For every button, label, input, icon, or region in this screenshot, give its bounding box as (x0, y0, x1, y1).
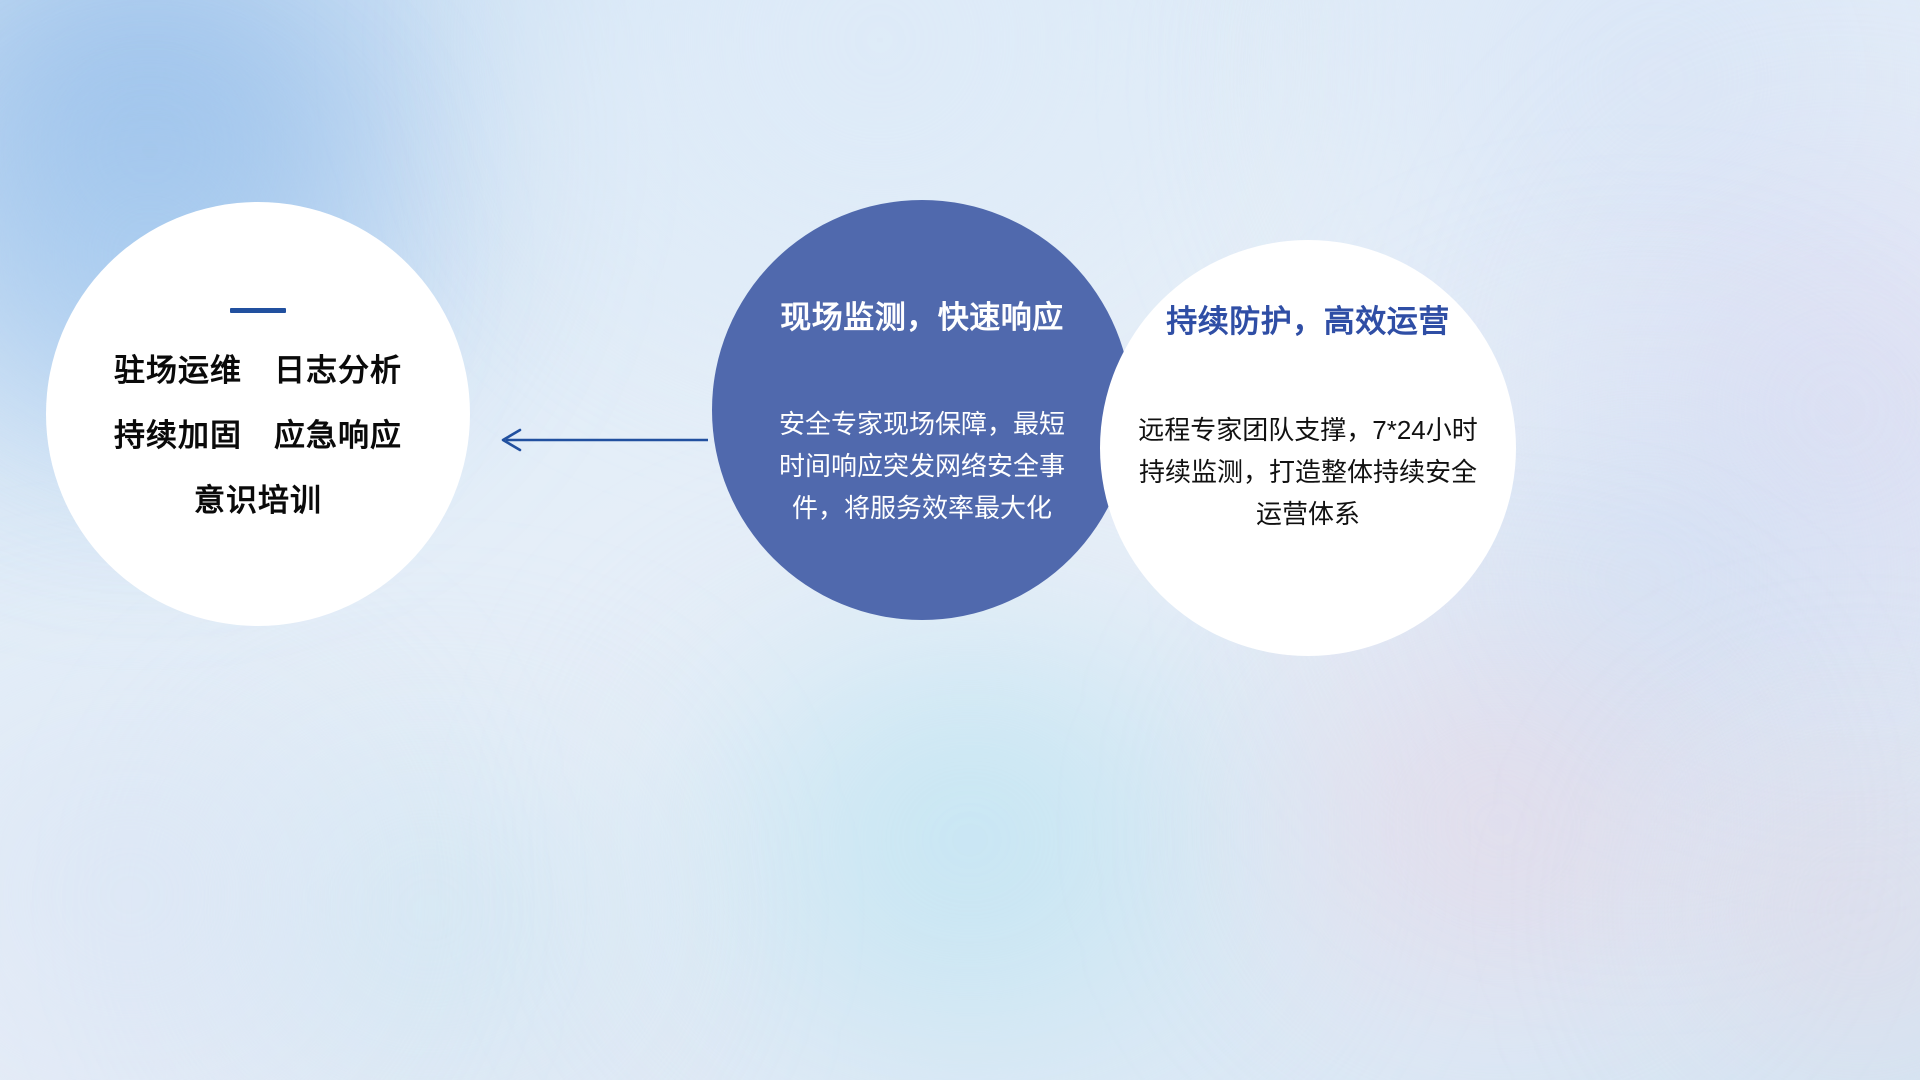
middle-circle-title: 现场监测，快速响应 (780, 292, 1064, 337)
right-circle-content: 持续防护，高效运营 远程专家团队支撑，7*24小时持续监测，打造整体持续安全运营… (1100, 240, 1516, 656)
divider-dash-icon (230, 308, 286, 313)
middle-circle-body: 安全专家现场保障，最短时间响应突发网络安全事件，将服务效率最大化 (767, 403, 1077, 529)
middle-circle-content: 现场监测，快速响应 安全专家现场保障，最短时间响应突发网络安全事件，将服务效率最… (712, 200, 1132, 620)
left-circle-line-1: 驻场运维 日志分析 (114, 355, 402, 386)
left-circle-line-2: 持续加固 应急响应 (114, 420, 402, 451)
right-circle-body: 远程专家团队支撑，7*24小时持续监测，打造整体持续安全运营体系 (1135, 409, 1481, 535)
slide-canvas: 现场监测，快速响应 安全专家现场保障，最短时间响应突发网络安全事件，将服务效率最… (0, 0, 1920, 1080)
connector-arrow (490, 420, 710, 460)
right-circle-title: 持续防护，高效运营 (1166, 296, 1450, 341)
middle-circle-card[interactable]: 现场监测，快速响应 安全专家现场保障，最短时间响应突发网络安全事件，将服务效率最… (712, 200, 1132, 620)
left-circle-card[interactable]: 驻场运维 日志分析 持续加固 应急响应 意识培训 (46, 202, 470, 626)
right-circle-card[interactable]: 持续防护，高效运营 远程专家团队支撑，7*24小时持续监测，打造整体持续安全运营… (1100, 240, 1516, 656)
left-circle-content: 驻场运维 日志分析 持续加固 应急响应 意识培训 (46, 202, 470, 626)
left-circle-line-3: 意识培训 (194, 485, 322, 516)
